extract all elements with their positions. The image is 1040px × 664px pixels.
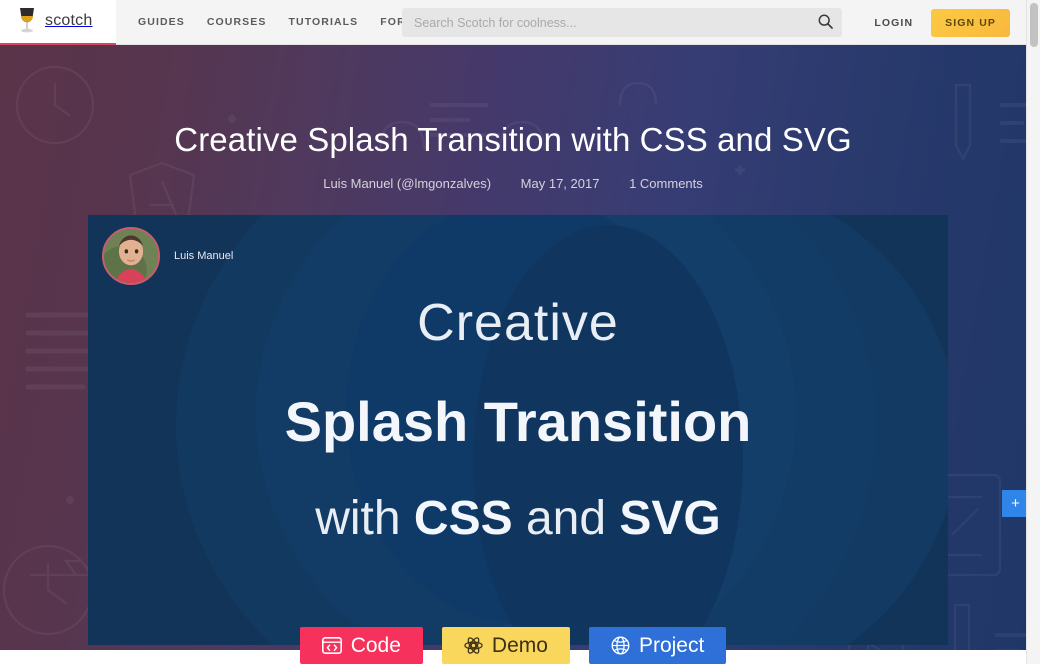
avatar: [102, 227, 160, 285]
top-navbar: scotch GUIDES COURSES TUTORIALS FORUMS L…: [0, 0, 1026, 45]
nav-actions: LOGIN SIGN UP: [874, 0, 1010, 45]
code-window-icon: [322, 637, 342, 654]
whisky-glass-icon: [16, 7, 38, 35]
page-root: scotch GUIDES COURSES TUTORIALS FORUMS L…: [0, 0, 1040, 664]
atom-icon: [464, 636, 483, 655]
nav-item-courses[interactable]: COURSES: [207, 16, 267, 28]
card-line-1: Creative: [88, 297, 948, 349]
card-line-3-pre: with: [315, 492, 414, 545]
search-submit-button[interactable]: [808, 8, 842, 37]
page-scrollbar[interactable]: [1026, 0, 1040, 664]
card-line-3: with CSS and SVG: [88, 495, 948, 543]
signup-button[interactable]: SIGN UP: [931, 9, 1010, 37]
search-input[interactable]: [402, 16, 808, 30]
article-action-buttons: Code Demo: [0, 627, 1026, 664]
demo-button[interactable]: Demo: [442, 627, 570, 664]
brand-name: scotch: [45, 12, 92, 30]
globe-icon: [611, 636, 630, 655]
nav-item-tutorials[interactable]: TUTORIALS: [289, 16, 359, 28]
meta-comments[interactable]: 1 Comments: [629, 176, 703, 191]
brand-home-link[interactable]: scotch: [0, 0, 116, 45]
floating-add-button[interactable]: +: [1002, 490, 1029, 517]
card-line-3-svg: SVG: [619, 492, 720, 545]
card-line-3-mid: and: [513, 492, 620, 545]
demo-button-label: Demo: [492, 635, 548, 656]
card-line-3-css: CSS: [414, 492, 513, 545]
login-link[interactable]: LOGIN: [874, 17, 913, 29]
nav-item-guides[interactable]: GUIDES: [138, 16, 185, 28]
project-button-label: Project: [639, 635, 704, 656]
search-icon: [818, 14, 833, 32]
card-author: Luis Manuel: [102, 227, 233, 285]
code-button[interactable]: Code: [300, 627, 423, 664]
card-author-name: Luis Manuel: [174, 250, 233, 262]
page-title: Creative Splash Transition with CSS and …: [0, 121, 1026, 159]
card-line-2: Splash Transition: [88, 394, 948, 450]
article-meta: Luis Manuel (@lmgonzalves) May 17, 2017 …: [0, 176, 1026, 191]
primary-nav: GUIDES COURSES TUTORIALS FORUMS: [138, 16, 432, 28]
meta-author[interactable]: Luis Manuel (@lmgonzalves): [323, 176, 491, 191]
card-headline: Creative Splash Transition with CSS and …: [88, 297, 948, 543]
code-button-label: Code: [351, 635, 401, 656]
hero-section: Creative Splash Transition with CSS and …: [0, 45, 1026, 650]
search-box: [402, 8, 842, 37]
project-button[interactable]: Project: [589, 627, 726, 664]
scrollbar-thumb[interactable]: [1030, 3, 1038, 47]
meta-date: May 17, 2017: [521, 176, 600, 191]
featured-image-card[interactable]: Luis Manuel Creative Splash Transition w…: [88, 215, 948, 645]
